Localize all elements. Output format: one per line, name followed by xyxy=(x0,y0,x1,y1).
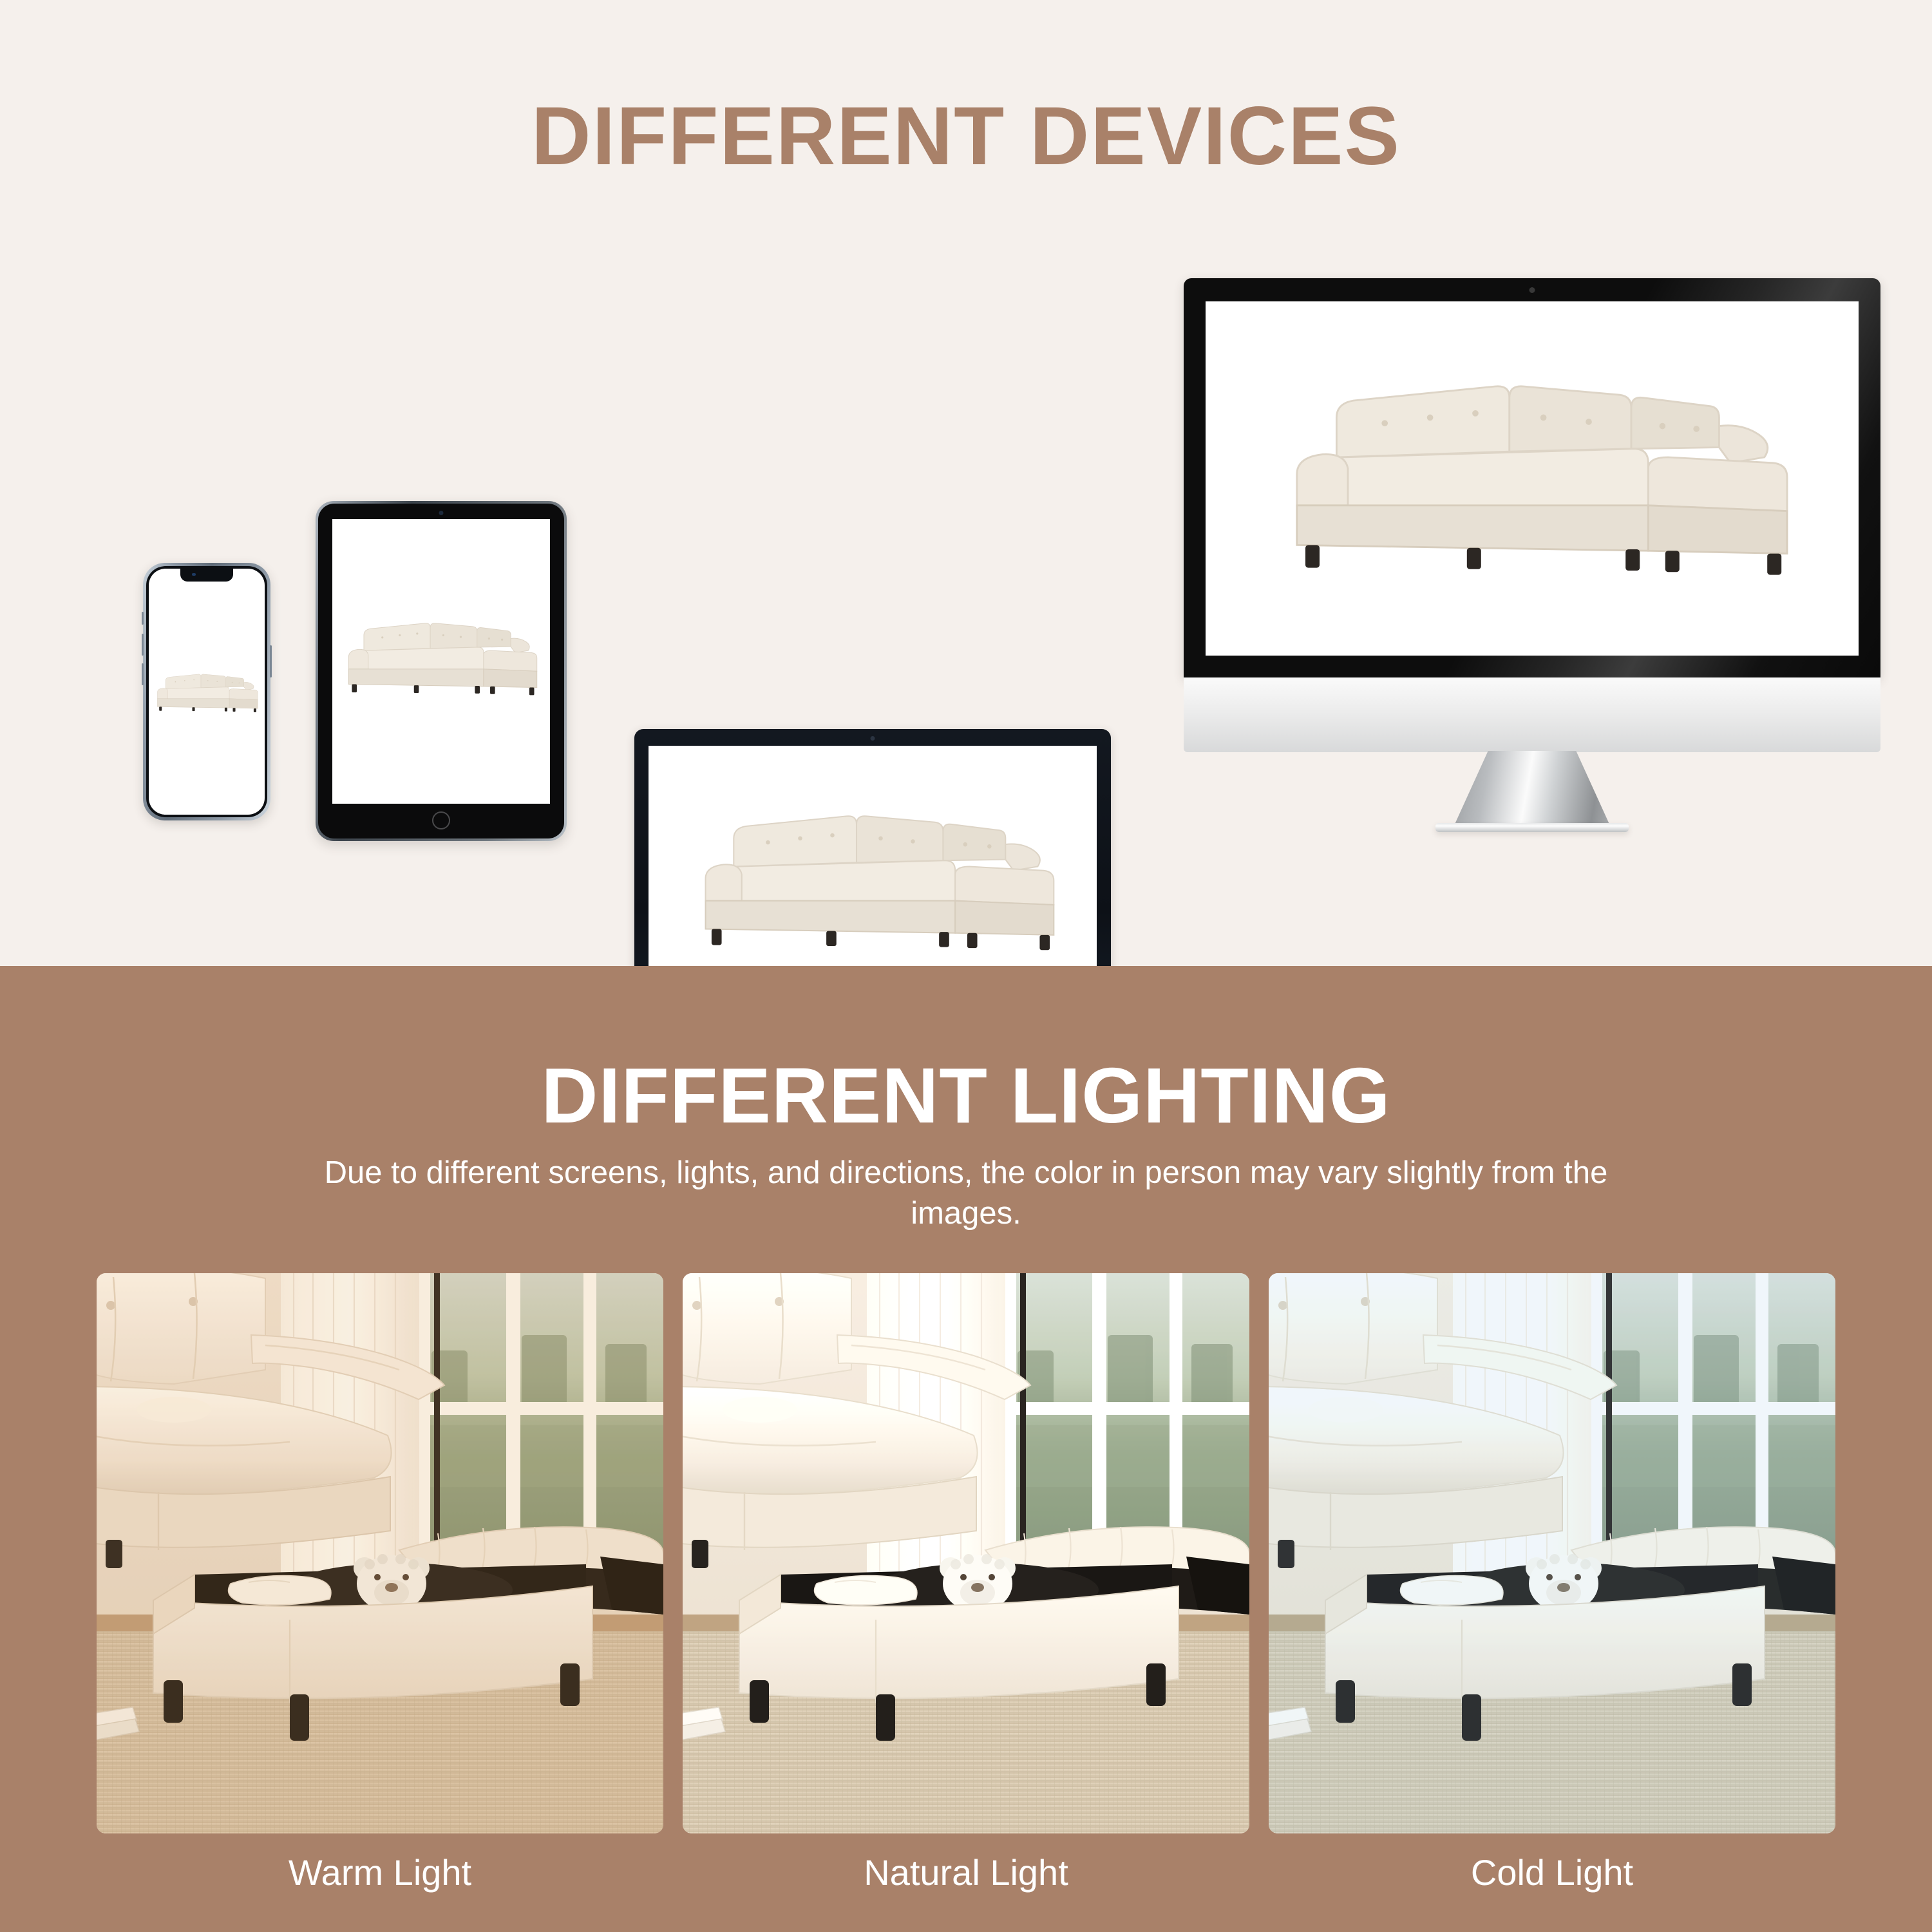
lighting-section-subtitle: Due to different screens, lights, and di… xyxy=(309,1153,1623,1233)
monitor-camera-icon xyxy=(1529,287,1535,293)
phone-screen xyxy=(149,569,265,815)
laptop-camera-icon xyxy=(871,736,875,741)
label-warm-light: Warm Light xyxy=(97,1851,663,1893)
monitor-stand-neck xyxy=(1454,751,1611,827)
monitor-chin xyxy=(1184,677,1880,752)
label-natural-light: Natural Light xyxy=(683,1851,1249,1893)
monitor-screen xyxy=(1206,301,1859,656)
lighting-photo-row xyxy=(97,1273,1835,1833)
monitor-bezel xyxy=(1184,278,1880,677)
tablet-sofa-product-image xyxy=(332,519,550,804)
phone-power-button[interactable] xyxy=(270,645,272,677)
phone-volume-up-button[interactable] xyxy=(142,634,144,656)
phone-volume-down-button[interactable] xyxy=(142,663,144,685)
devices-section-title: DIFFERENT DEVICES xyxy=(0,95,1932,178)
monitor-stand-base xyxy=(1435,823,1629,832)
tablet-home-button[interactable] xyxy=(432,811,450,829)
monitor-sofa-product-image xyxy=(1206,301,1859,656)
lighting-photo-cold[interactable] xyxy=(1269,1273,1835,1833)
tablet-screen xyxy=(332,519,550,804)
lighting-label-row: Warm Light Natural Light Cold Light xyxy=(97,1851,1835,1893)
different-devices-section: DIFFERENT DEVICES xyxy=(0,0,1932,966)
room-scene-cold xyxy=(1269,1273,1835,1833)
smartphone-mockup xyxy=(143,563,270,820)
phone-mute-button[interactable] xyxy=(142,612,144,625)
label-cold-light: Cold Light xyxy=(1269,1851,1835,1893)
phone-notch-icon xyxy=(180,569,233,582)
desktop-monitor-mockup xyxy=(1184,278,1880,840)
tablet-mockup xyxy=(316,501,567,841)
phone-body xyxy=(146,566,267,817)
room-scene-natural xyxy=(683,1273,1249,1833)
lighting-section-title: DIFFERENT LIGHTING xyxy=(0,1056,1932,1135)
phone-sofa-product-image xyxy=(149,569,265,815)
tablet-body xyxy=(318,504,564,838)
room-scene-warm xyxy=(97,1273,663,1833)
different-lighting-section: DIFFERENT LIGHTING Due to different scre… xyxy=(0,966,1932,1932)
tablet-camera-icon xyxy=(439,511,444,515)
lighting-photo-natural[interactable] xyxy=(683,1273,1249,1833)
lighting-photo-warm[interactable] xyxy=(97,1273,663,1833)
device-mockup-stage xyxy=(0,245,1932,889)
